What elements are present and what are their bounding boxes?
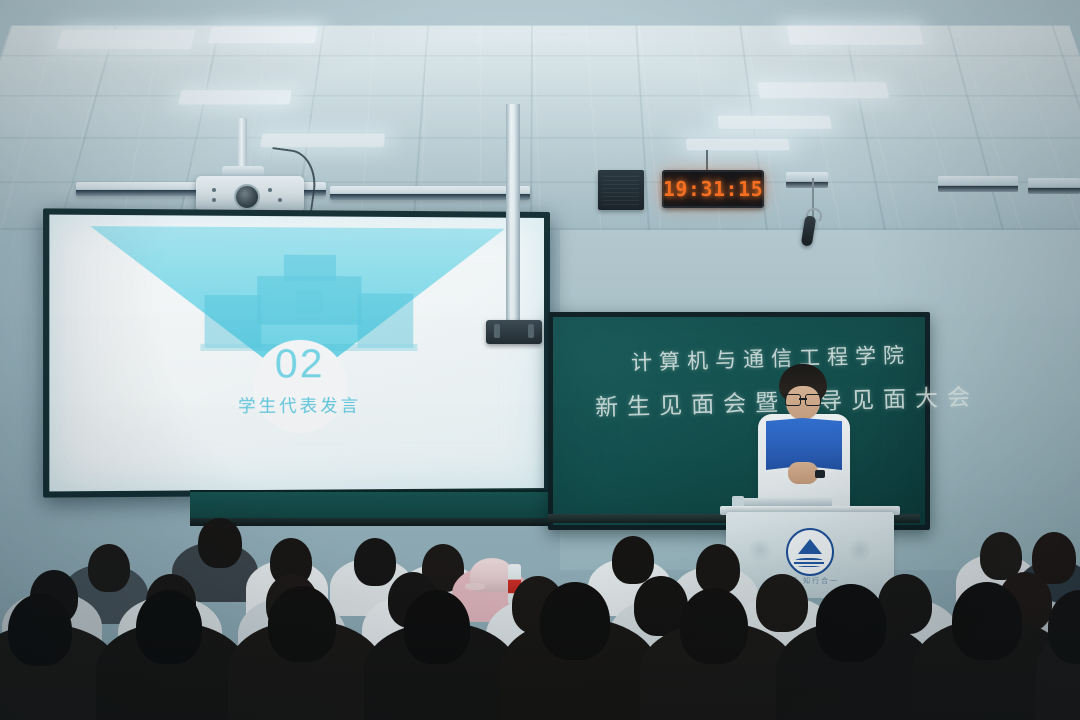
- projector-indicator: [212, 198, 216, 202]
- speaker-grille: [603, 175, 639, 205]
- audience-member: [696, 544, 740, 594]
- audience-member: [404, 590, 470, 664]
- audience-member: [816, 584, 886, 662]
- mountain-icon: [798, 539, 822, 554]
- clock-hanger: [706, 150, 708, 172]
- suspended-ceiling: [0, 26, 1080, 230]
- university-emblem: [786, 528, 834, 576]
- audience-member: [8, 594, 72, 666]
- slide-number: 02: [275, 342, 325, 388]
- lecture-hall-photo: 02 学生代表发言 19:31:15 计算机与通信工程学院 新生见面会暨助导见面…: [0, 0, 1080, 720]
- wall-light-bar: [330, 186, 530, 200]
- wristwatch-icon: [815, 470, 825, 478]
- audience-member: [756, 574, 808, 632]
- audience-member: [354, 538, 396, 586]
- projector-indicator: [212, 188, 216, 192]
- wall-fixture: [786, 172, 828, 188]
- ceiling-projector: [196, 176, 304, 212]
- audience-member: [88, 544, 130, 592]
- audience-member: [952, 582, 1022, 660]
- ceiling-shading: [0, 26, 1080, 230]
- projector-mount-pole: [238, 118, 247, 170]
- podium-vent: [748, 538, 772, 562]
- projection-screen-frame: 02 学生代表发言: [43, 208, 550, 497]
- blackboard-line-1: 计算机与通信工程学院: [631, 339, 912, 377]
- podium-vent: [848, 538, 872, 562]
- wave-icon: [794, 558, 824, 567]
- slide-caption: 学生代表发言: [238, 391, 361, 417]
- projector-lens-icon: [234, 184, 260, 210]
- audience-member: [612, 536, 654, 584]
- wall-speaker: [598, 170, 644, 210]
- audience-member: [268, 586, 336, 662]
- projector-indicator: [268, 188, 272, 192]
- projector-indicator: [278, 198, 282, 202]
- speaker-hands: [788, 462, 818, 484]
- glasses-icon: [785, 394, 821, 404]
- audience-member: [680, 588, 748, 664]
- audience-member: [540, 582, 610, 660]
- projection-screen: 02 学生代表发言: [49, 215, 544, 492]
- screen-support-pole: [506, 104, 520, 336]
- wall-fixture: [1028, 178, 1080, 194]
- audience-member: [198, 518, 242, 568]
- pole-equipment-bracket: [486, 320, 542, 344]
- audience-member: [136, 590, 202, 664]
- wall-fixture: [938, 176, 1018, 192]
- chalk-rail-left: [190, 518, 570, 526]
- clock-time: 19:31:15: [663, 177, 763, 201]
- led-wall-clock: 19:31:15: [662, 170, 764, 208]
